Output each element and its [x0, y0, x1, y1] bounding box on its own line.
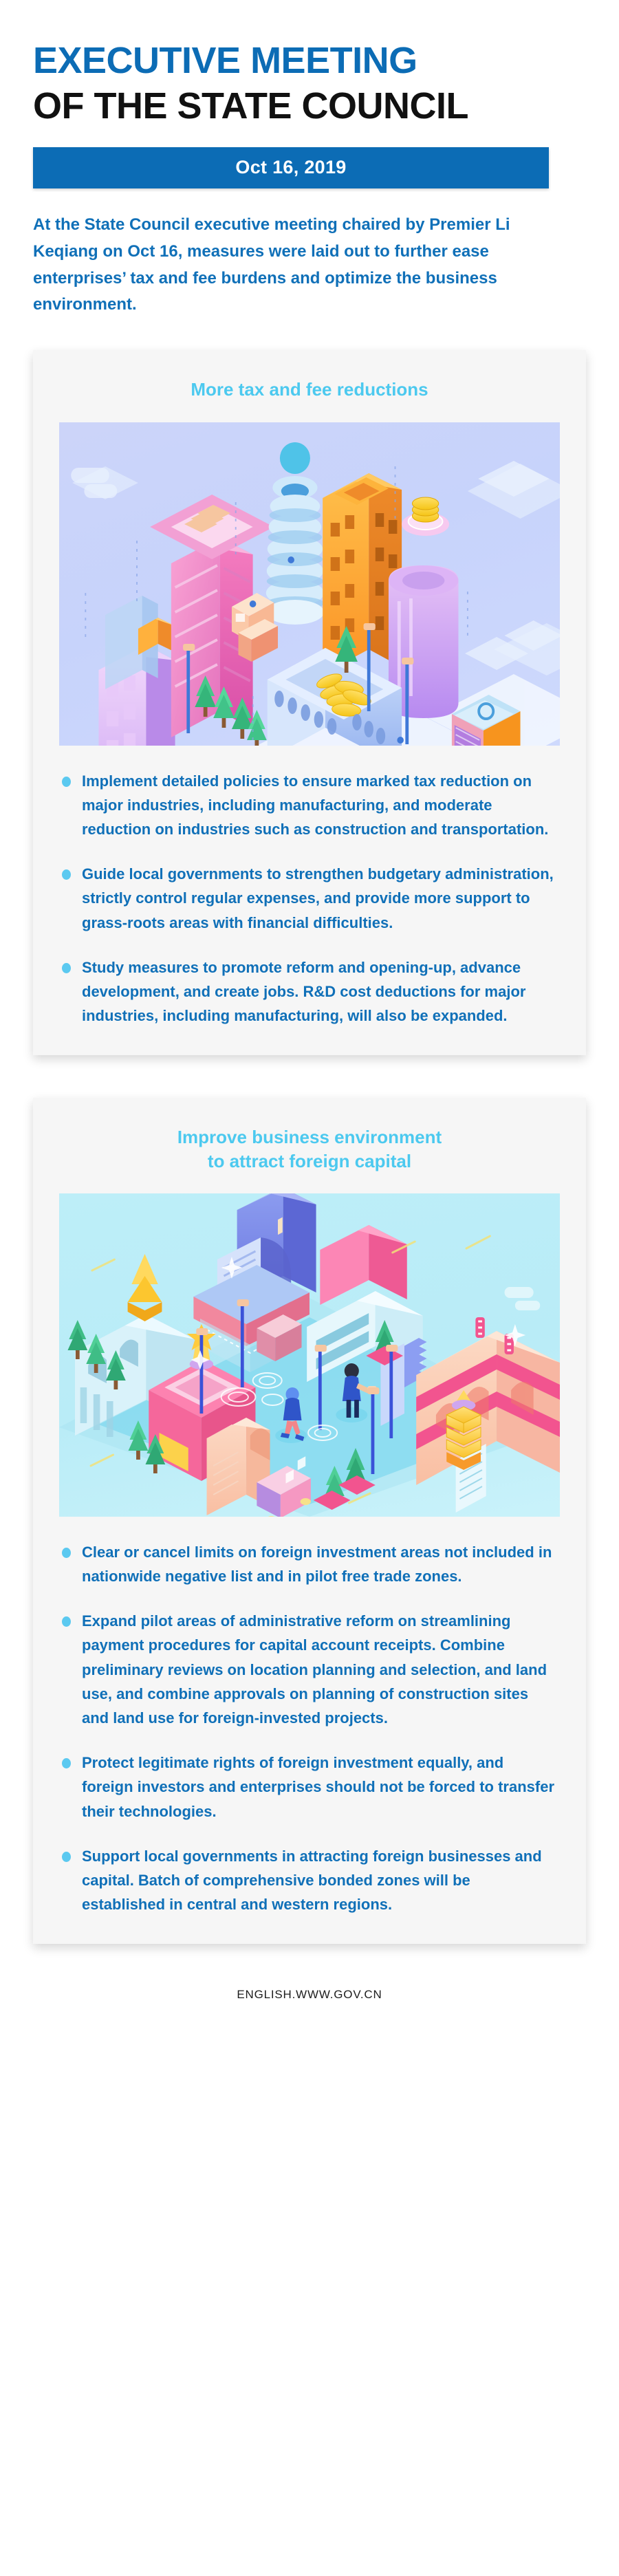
list-item: Expand pilot areas of administrative ref… [62, 1609, 554, 1730]
bullet-text: Clear or cancel limits on foreign invest… [82, 1540, 554, 1588]
isometric-city-coins-icon [59, 422, 560, 746]
list-item: Clear or cancel limits on foreign invest… [62, 1540, 554, 1588]
card-1-bullets: Implement detailed policies to ensure ma… [33, 746, 586, 1028]
card-business-environment: Improve business environment to attract … [33, 1098, 586, 1944]
footer-source: ENGLISH.WWW.GOV.CN [0, 1988, 619, 2029]
bullet-text: Implement detailed policies to ensure ma… [82, 769, 554, 842]
illustration-isometric-city-square-with-people [59, 1193, 560, 1517]
bullet-dot-icon [62, 1616, 71, 1627]
list-item: Protect legitimate rights of foreign inv… [62, 1751, 554, 1823]
list-item: Implement detailed policies to ensure ma… [62, 769, 554, 842]
header: EXECUTIVE MEETING OF THE STATE COUNCIL O… [0, 0, 619, 318]
illustration-isometric-city-with-coins [59, 422, 560, 746]
list-item: Support local governments in attracting … [62, 1844, 554, 1917]
list-item: Guide local governments to strengthen bu… [62, 862, 554, 935]
date-banner-label: Oct 16, 2019 [235, 157, 346, 178]
bullet-dot-icon [62, 963, 71, 973]
bullet-text: Support local governments in attracting … [82, 1844, 554, 1917]
intro-paragraph: At the State Council executive meeting c… [33, 212, 576, 319]
date-banner: Oct 16, 2019 [33, 147, 549, 188]
card-2-bullets: Clear or cancel limits on foreign invest… [33, 1517, 586, 1916]
bullet-dot-icon [62, 1852, 71, 1862]
card-2-title-line-1: Improve business environment [61, 1125, 558, 1149]
list-item: Study measures to promote reform and ope… [62, 955, 554, 1028]
bullet-dot-icon [62, 777, 71, 787]
bullet-text: Guide local governments to strengthen bu… [82, 862, 554, 935]
bullet-text: Study measures to promote reform and ope… [82, 955, 554, 1028]
card-tax-reductions: More tax and fee reductions [33, 350, 586, 1055]
bullet-text: Protect legitimate rights of foreign inv… [82, 1751, 554, 1823]
card-2-title-line-2: to attract foreign capital [61, 1149, 558, 1173]
card-1-title: More tax and fee reductions [33, 350, 586, 422]
infographic-page: EXECUTIVE MEETING OF THE STATE COUNCIL O… [0, 0, 619, 2029]
bullet-text: Expand pilot areas of administrative ref… [82, 1609, 554, 1730]
bullet-dot-icon [62, 1548, 71, 1558]
bullet-dot-icon [62, 1758, 71, 1768]
bullet-dot-icon [62, 869, 71, 880]
isometric-city-people-icon [59, 1193, 560, 1517]
page-title-line-2: OF THE STATE COUNCIL [33, 84, 586, 129]
page-title-line-1: EXECUTIVE MEETING [33, 39, 586, 84]
card-2-title: Improve business environment to attract … [33, 1098, 586, 1193]
